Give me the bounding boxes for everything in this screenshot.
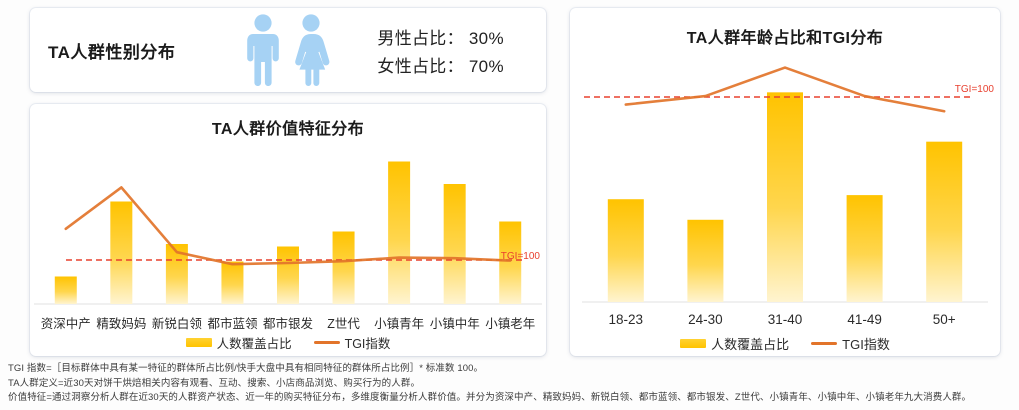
bar <box>110 202 132 305</box>
x-axis-tick-label: 都市蓝领 <box>205 313 261 332</box>
legend-item-line[interactable]: TGI指数 <box>811 334 890 353</box>
value-chart-title: TA人群价值特征分布 <box>30 104 546 139</box>
x-axis-tick-label: 新锐白领 <box>149 313 205 332</box>
gender-stats-group: 男性占比： 30% 女性占比： 70% <box>377 24 503 77</box>
gender-distribution-card: TA人群性别分布 男性占比： 30% 女性占比： 70% <box>30 8 546 92</box>
bar <box>767 92 803 302</box>
legend-label-line: TGI指数 <box>842 334 890 353</box>
legend-label-line: TGI指数 <box>345 333 391 352</box>
x-axis-tick-label: 50+ <box>904 312 984 327</box>
bar <box>388 162 410 305</box>
bar-swatch-icon <box>186 338 212 347</box>
x-axis-tick-label: 资深中产 <box>38 313 94 332</box>
x-axis-tick-label: 31-40 <box>745 312 825 327</box>
x-axis-tick-label: 小镇老年 <box>483 313 539 332</box>
legend-item-bar[interactable]: 人数覆盖占比 <box>186 333 292 352</box>
age-chart-legend: 人数覆盖占比 TGI指数 <box>570 334 1000 353</box>
bar <box>926 142 962 302</box>
footnote-line: TGI 指数=［目标群体中具有某一特征的群体所占比例/快手大盘中具有相同特征的群… <box>8 362 1016 377</box>
x-axis-tick-label: 小镇青年 <box>371 313 427 332</box>
age-distribution-chart-card: TA人群年龄占比和TGI分布 TGI=100 18-2324-3031-4041… <box>570 8 1000 356</box>
legend-label-bar: 人数覆盖占比 <box>711 334 789 353</box>
x-axis-tick-label: 精致妈妈 <box>94 313 150 332</box>
line-swatch-icon <box>314 341 340 344</box>
male-figure-icon <box>241 13 285 87</box>
value-chart-legend: 人数覆盖占比 TGI指数 <box>30 333 546 352</box>
footnote-block: TGI 指数=［目标群体中具有某一特征的群体所占比例/快手大盘中具有相同特征的群… <box>8 362 1016 406</box>
x-axis-tick-label: 小镇中年 <box>427 313 483 332</box>
age-chart-plot <box>570 52 1000 310</box>
legend-item-bar[interactable]: 人数覆盖占比 <box>680 334 789 353</box>
x-axis-tick-label: 都市银发 <box>260 313 316 332</box>
bar <box>221 262 243 305</box>
female-ratio-text: 女性占比： 70% <box>377 52 503 77</box>
gender-card-title: TA人群性别分布 <box>48 38 175 63</box>
bar <box>608 199 644 302</box>
bar <box>277 247 299 305</box>
page-background: TA人群性别分布 男性占比： 30% 女性占比： 70% TA人群价值特征分布 <box>0 0 1019 410</box>
bar-swatch-icon <box>680 339 706 348</box>
female-figure-icon <box>289 13 333 87</box>
bar <box>333 232 355 305</box>
x-axis-tick-label: Z世代 <box>316 313 372 332</box>
value-feature-chart-card: TA人群价值特征分布 TGI=100 资深中产精致妈妈新锐白领都市蓝领都市银发Z… <box>30 104 546 356</box>
bar <box>55 277 77 305</box>
bar <box>847 195 883 302</box>
age-chart-tgi-reference-label: TGI=100 <box>955 84 994 95</box>
x-axis-tick-label: 24-30 <box>666 312 746 327</box>
gender-icons-group <box>241 13 333 87</box>
legend-label-bar: 人数覆盖占比 <box>217 333 292 352</box>
footnote-line: TA人群定义=近30天对饼干烘焙相关内容有观看、互动、搜索、小店商品浏览、购买行… <box>8 377 1016 392</box>
footnote-line: 价值特征=通过洞察分析人群在近30天的人群资产状态、近一年的购买特征分布，多维度… <box>8 391 1016 406</box>
legend-item-line[interactable]: TGI指数 <box>314 333 391 352</box>
bar <box>687 220 723 302</box>
x-axis-tick-label: 41-49 <box>825 312 905 327</box>
age-chart-title: TA人群年龄占比和TGI分布 <box>570 8 1000 48</box>
value-chart-x-axis-labels: 资深中产精致妈妈新锐白领都市蓝领都市银发Z世代小镇青年小镇中年小镇老年 <box>30 313 546 332</box>
line-swatch-icon <box>811 342 837 345</box>
x-axis-tick-label: 18-23 <box>586 312 666 327</box>
bar <box>444 184 466 304</box>
value-chart-plot <box>30 138 546 312</box>
age-chart-x-axis-labels: 18-2324-3031-4041-4950+ <box>570 312 1000 327</box>
male-ratio-text: 男性占比： 30% <box>377 24 503 49</box>
bar <box>499 222 521 305</box>
value-chart-tgi-reference-label: TGI=100 <box>501 251 540 262</box>
